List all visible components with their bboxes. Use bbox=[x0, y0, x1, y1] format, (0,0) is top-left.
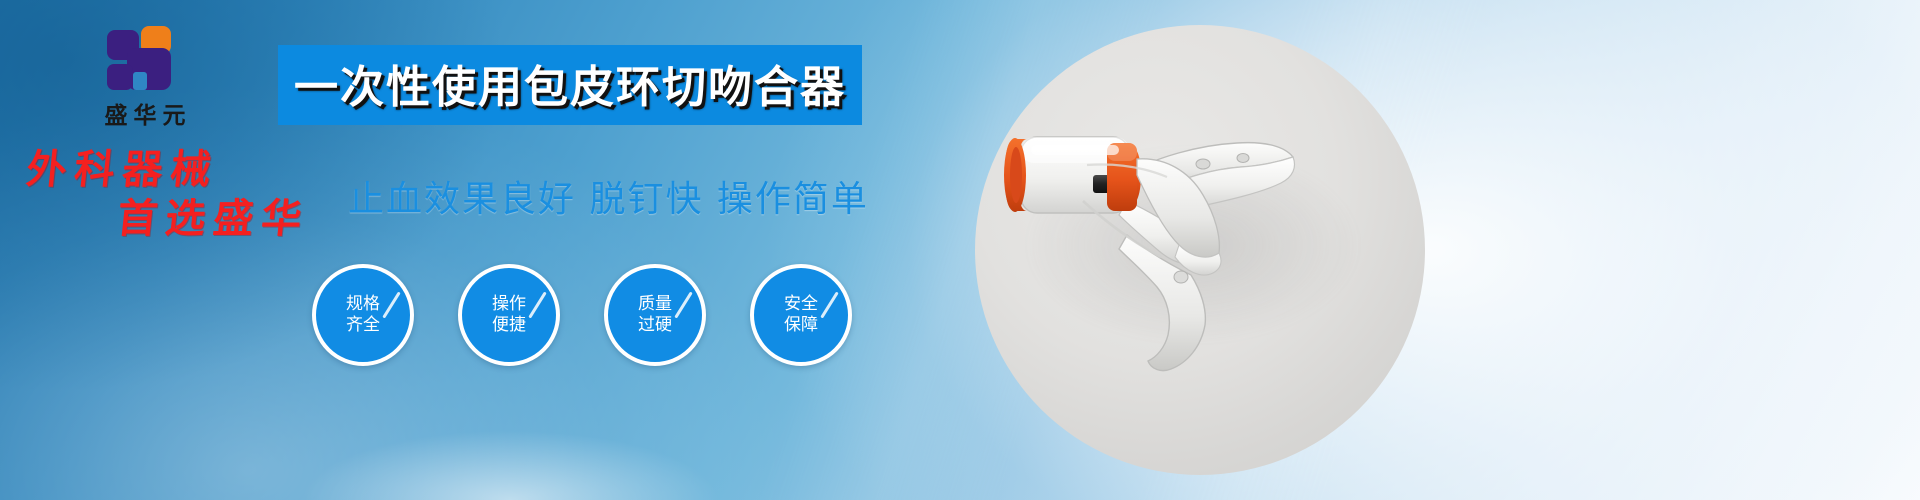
feature-badge-operation[interactable]: 操作 便捷 bbox=[458, 264, 560, 366]
company-name: 盛华元 bbox=[60, 96, 230, 130]
feature-badge-label: 质量 过硬 bbox=[638, 294, 672, 335]
slash-accent-icon bbox=[820, 291, 838, 318]
calligraphy-line-2: 首选盛华 bbox=[115, 197, 354, 240]
calligraphy-line-1: 外科器械 bbox=[24, 146, 221, 193]
calligraphy-slogan: 外科器械 首选盛华 bbox=[19, 148, 359, 240]
slash-accent-icon bbox=[528, 291, 546, 318]
promo-banner: 盛华元 外科器械 首选盛华 一次性使用包皮环切吻合器 止血效果良好 脱钉快 操作… bbox=[0, 0, 1920, 500]
feature-badge-specs[interactable]: 规格 齐全 bbox=[312, 264, 414, 366]
title-band: 一次性使用包皮环切吻合器 bbox=[278, 45, 862, 125]
subtitle: 止血效果良好 脱钉快 操作简单 bbox=[348, 170, 869, 222]
logo-block-purple-bottom-left bbox=[107, 64, 133, 90]
brand-logo[interactable]: 盛华元 bbox=[60, 26, 230, 130]
logo-block-notch bbox=[133, 72, 147, 90]
feature-badge-quality[interactable]: 质量 过硬 bbox=[604, 264, 706, 366]
feature-badge-label: 安全 保障 bbox=[784, 294, 818, 335]
slash-accent-icon bbox=[674, 291, 692, 318]
feature-badge-label: 操作 便捷 bbox=[492, 294, 526, 335]
feature-badge-safety[interactable]: 安全 保障 bbox=[750, 264, 852, 366]
company-logo-blocks-icon bbox=[107, 26, 183, 90]
product-illustration bbox=[975, 25, 1425, 475]
page-title: 一次性使用包皮环切吻合器 bbox=[294, 51, 846, 115]
slash-accent-icon bbox=[382, 291, 400, 318]
product-image bbox=[975, 25, 1425, 475]
bottom-glow-decoration bbox=[300, 430, 720, 500]
feature-badge-label: 规格 齐全 bbox=[346, 294, 380, 335]
feature-badge-list: 规格 齐全 操作 便捷 质量 过硬 安全 保障 bbox=[312, 264, 852, 366]
